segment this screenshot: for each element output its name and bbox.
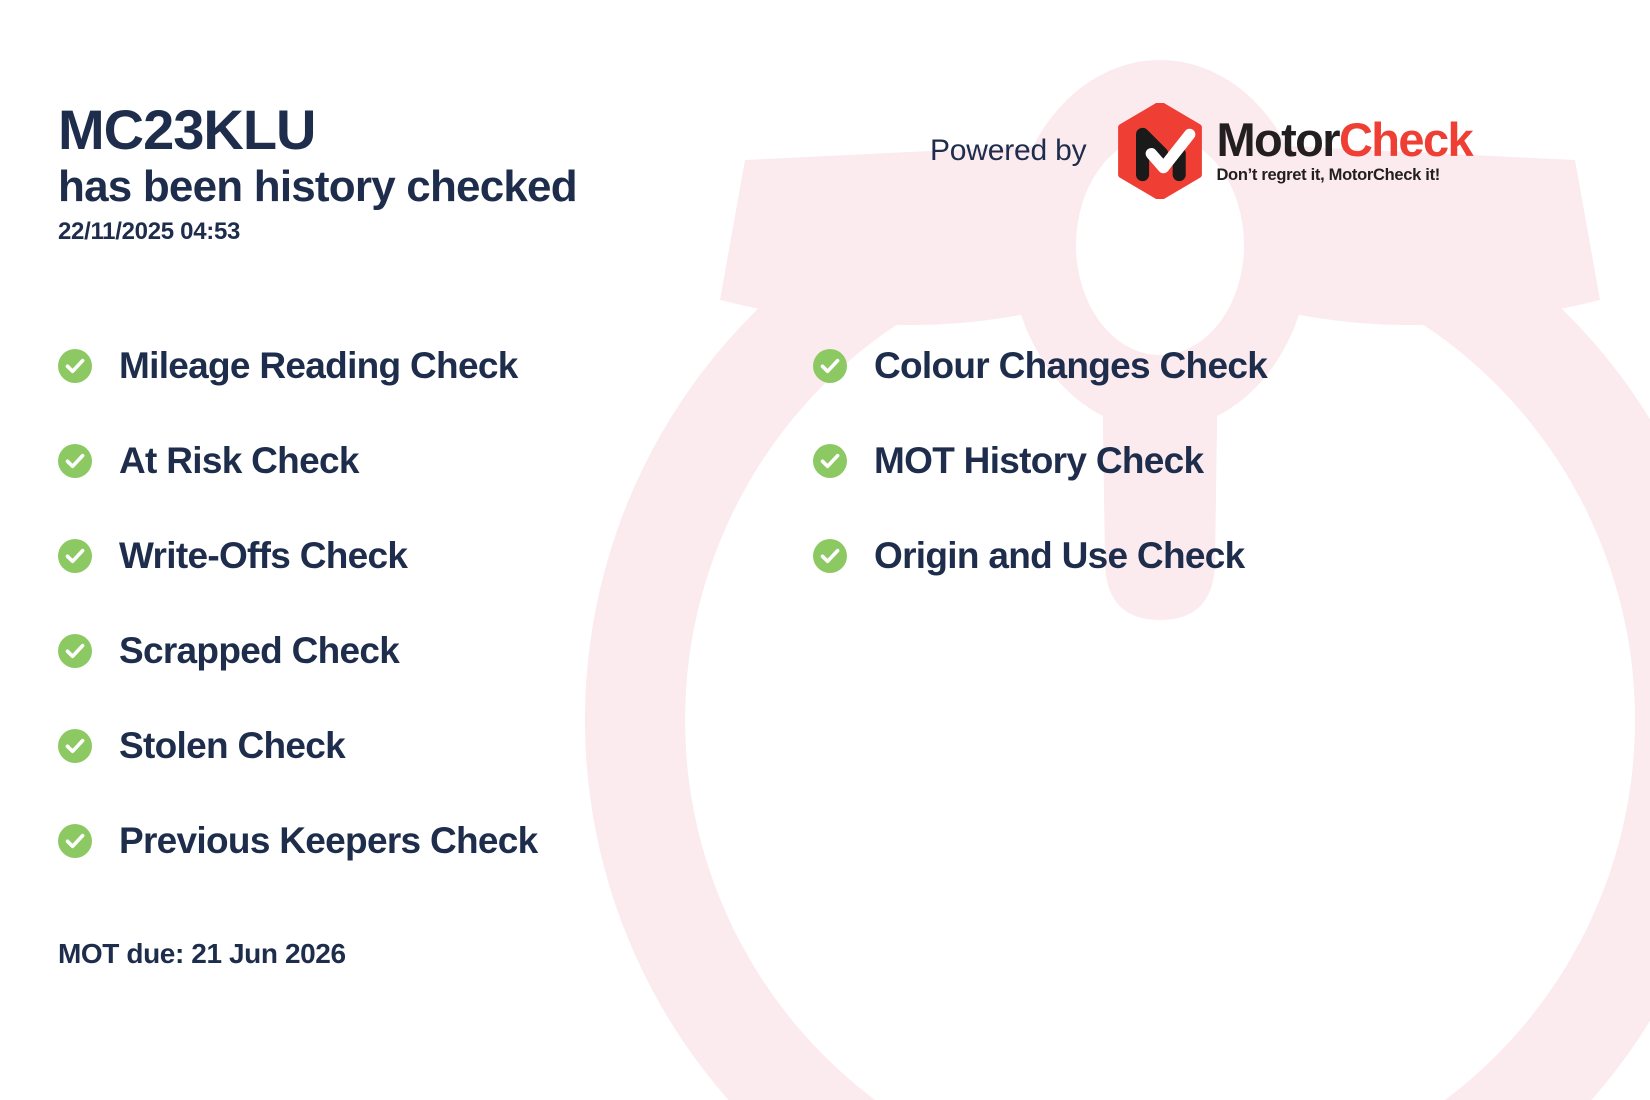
check-item: Previous Keepers Check: [58, 793, 538, 888]
check-item-label: Scrapped Check: [119, 630, 399, 672]
check-circle-icon: [813, 349, 847, 383]
check-circle-icon: [58, 634, 92, 668]
check-circle-icon: [58, 349, 92, 383]
wordmark-line: MotorCheck: [1216, 117, 1472, 163]
wordmark-check: Check: [1339, 113, 1472, 166]
vehicle-registration: MC23KLU: [58, 100, 577, 160]
checks-column-left: Mileage Reading Check At Risk Check Writ…: [58, 318, 538, 888]
check-circle-icon: [58, 824, 92, 858]
history-check-card: Powered by MotorCheck Don’t regret it, M…: [0, 0, 1650, 1100]
check-item: Scrapped Check: [58, 603, 538, 698]
motorcheck-wordmark: MotorCheck Don’t regret it, MotorCheck i…: [1216, 117, 1472, 185]
check-item: Colour Changes Check: [813, 318, 1267, 413]
headline-block: MC23KLU has been history checked 22/11/2…: [58, 100, 577, 246]
headline-subtitle: has been history checked: [58, 162, 577, 211]
check-circle-icon: [813, 539, 847, 573]
check-item: Mileage Reading Check: [58, 318, 538, 413]
check-item-label: Mileage Reading Check: [119, 345, 518, 387]
motorcheck-logo[interactable]: MotorCheck Don’t regret it, MotorCheck i…: [1116, 103, 1472, 199]
check-circle-icon: [813, 444, 847, 478]
check-timestamp: 22/11/2025 04:53: [58, 218, 577, 246]
check-item: Origin and Use Check: [813, 508, 1267, 603]
check-circle-icon: [58, 729, 92, 763]
logo-tagline: Don’t regret it, MotorCheck it!: [1216, 166, 1472, 185]
wordmark-motor: Motor: [1216, 113, 1339, 166]
check-circle-icon: [58, 539, 92, 573]
check-item: At Risk Check: [58, 413, 538, 508]
check-item-label: Origin and Use Check: [874, 535, 1245, 577]
check-item-label: At Risk Check: [119, 440, 359, 482]
check-item: Write-Offs Check: [58, 508, 538, 603]
motorcheck-hexagon-icon: [1116, 103, 1204, 199]
powered-by-block: Powered by MotorCheck Don’t regret it, M…: [930, 103, 1472, 199]
check-item: Stolen Check: [58, 698, 538, 793]
checks-column-right: Colour Changes Check MOT History Check O…: [813, 318, 1267, 603]
check-circle-icon: [58, 444, 92, 478]
check-item-label: Colour Changes Check: [874, 345, 1267, 387]
mot-due-text: MOT due: 21 Jun 2026: [58, 938, 346, 970]
check-item-label: Write-Offs Check: [119, 535, 407, 577]
check-item: MOT History Check: [813, 413, 1267, 508]
check-item-label: MOT History Check: [874, 440, 1203, 482]
check-item-label: Previous Keepers Check: [119, 820, 538, 862]
check-item-label: Stolen Check: [119, 725, 345, 767]
powered-by-label: Powered by: [930, 134, 1086, 168]
